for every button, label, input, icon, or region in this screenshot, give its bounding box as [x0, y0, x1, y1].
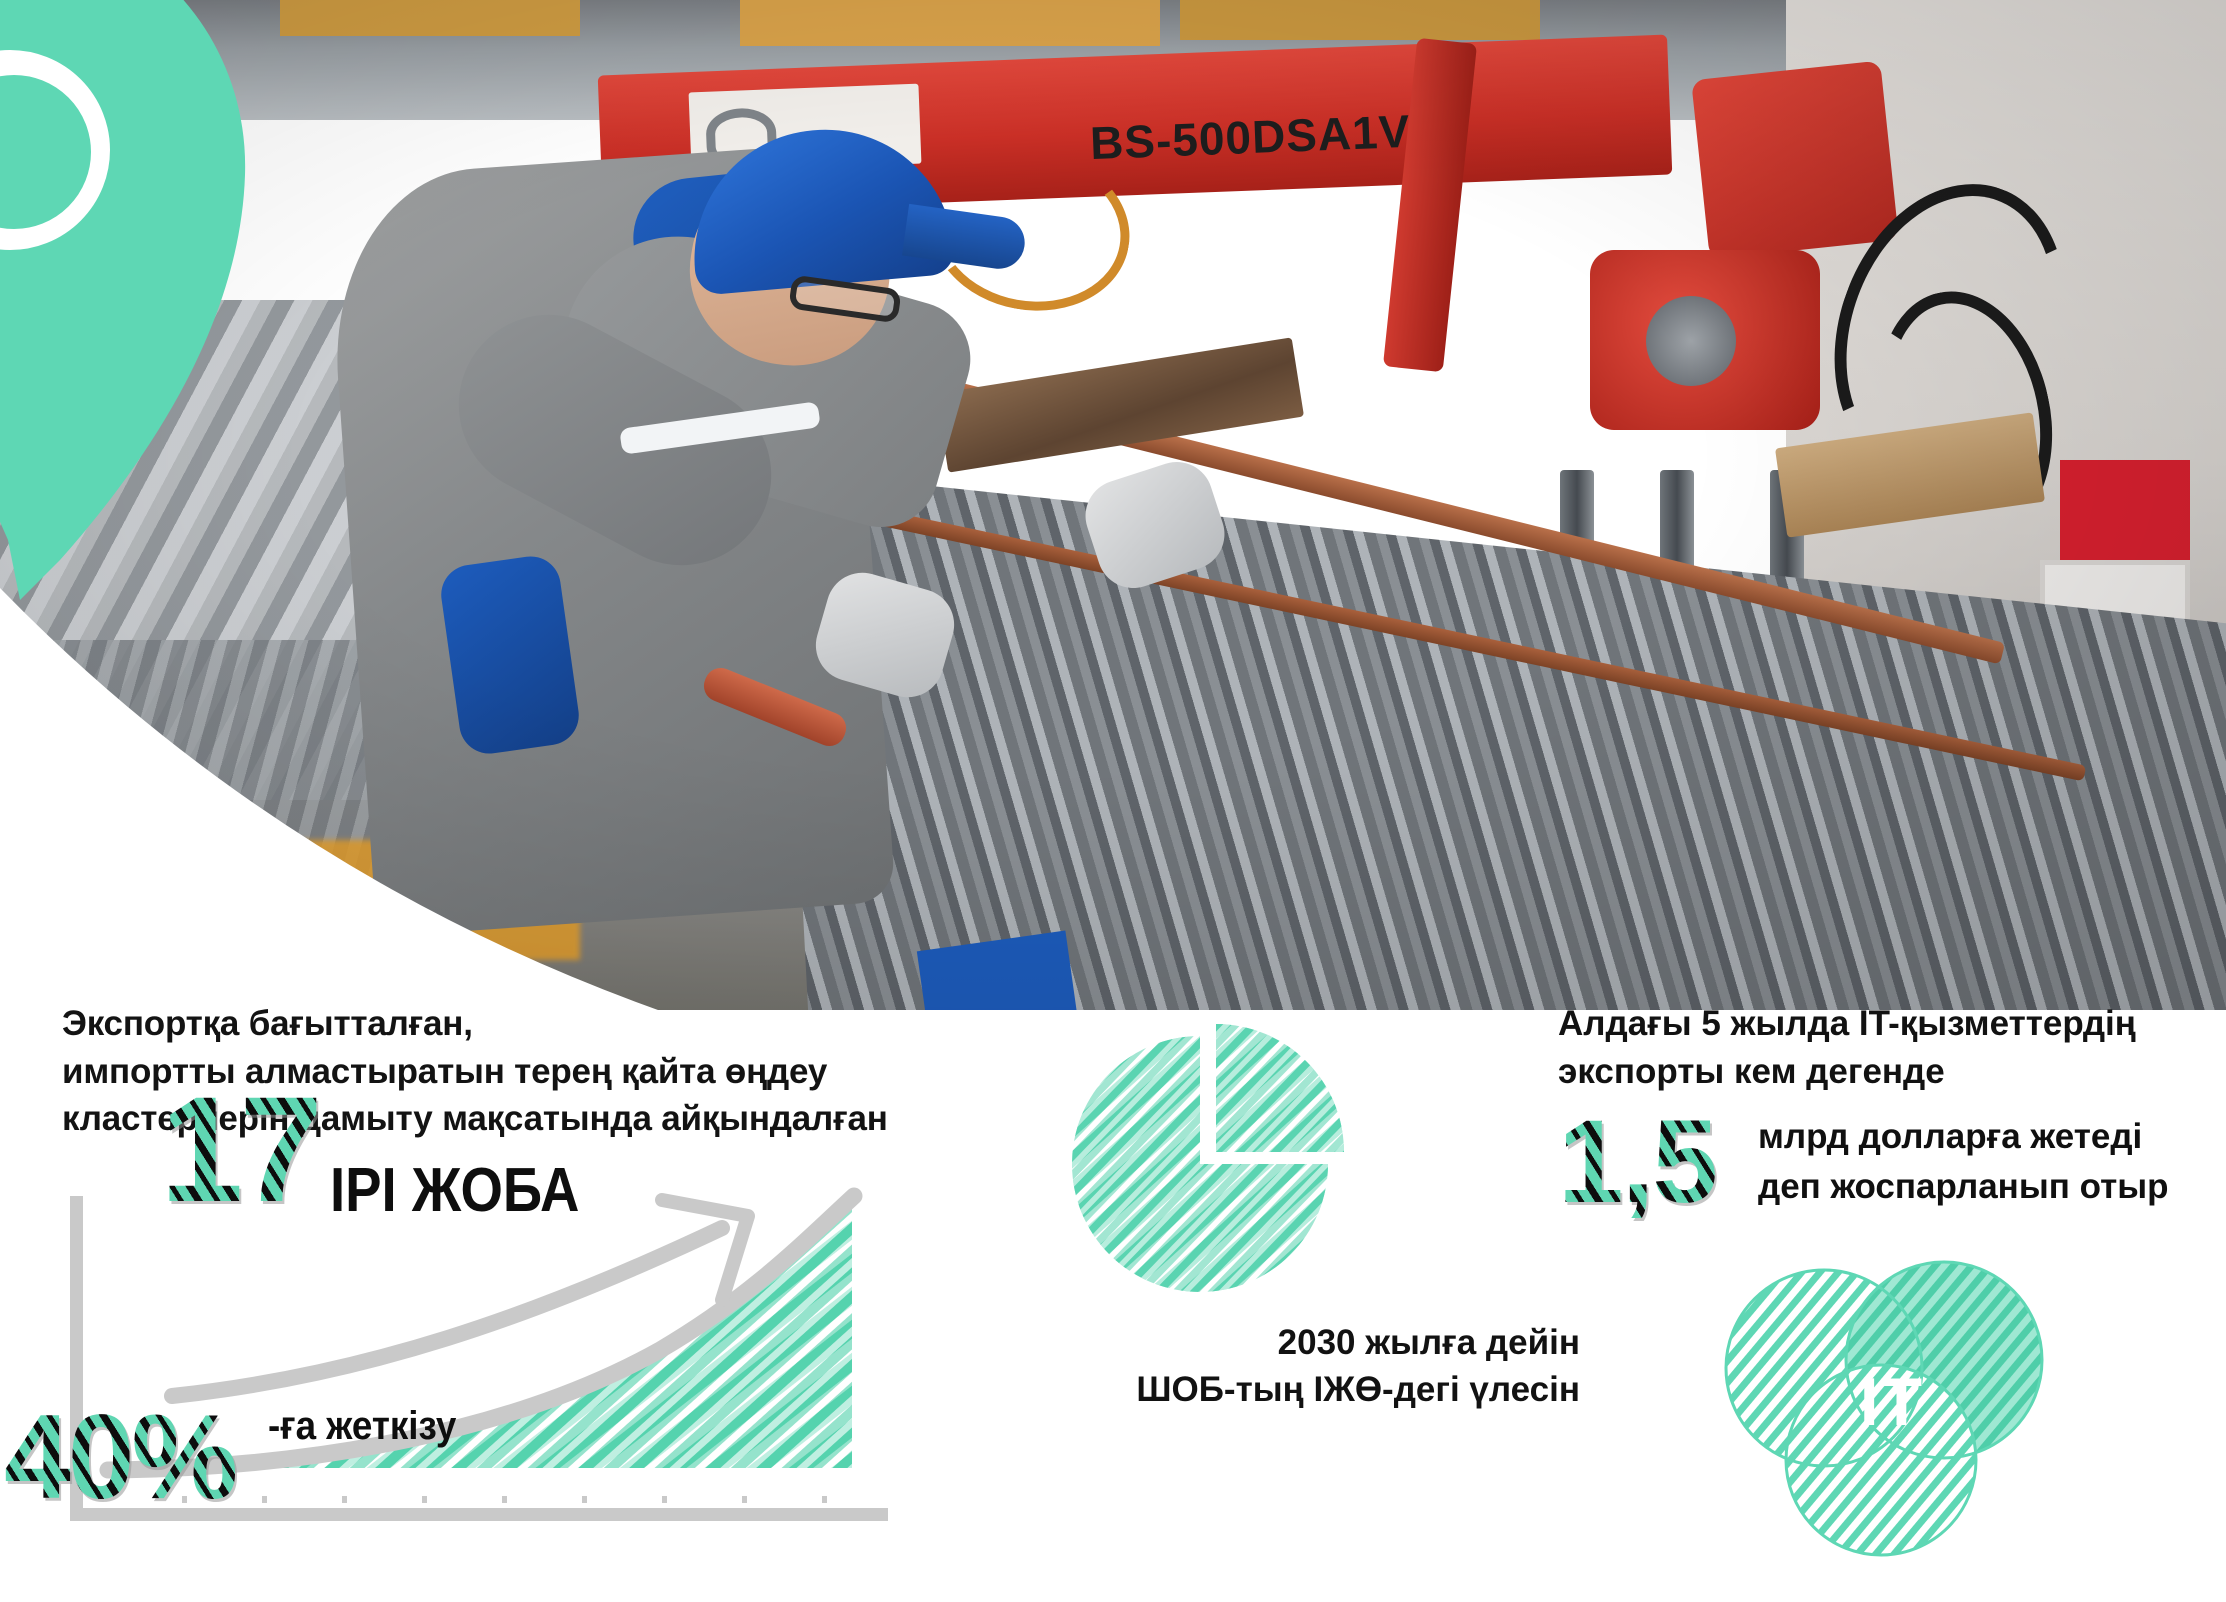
stat-40-number: 40%	[4, 1400, 235, 1514]
mid-paragraph: 2030 жылға дейін ШОБ-тың ІЖӨ-дегі үлесін	[960, 1320, 1580, 1414]
content-area: Экспортқа бағытталған, импортты алмастыр…	[0, 1000, 2226, 1602]
right-paragraph: Алдағы 5 жылда IT-қызметтердің экспорты …	[1558, 1000, 2198, 1097]
photo-vignette	[0, 0, 2226, 1010]
lead-line-1: Экспортқа бағытталған,	[62, 1000, 1012, 1048]
stat-40-suffix: -ға жеткізу	[268, 1404, 456, 1449]
venn-center-label: IT	[1722, 1252, 2062, 1552]
right-line-1: Алдағы 5 жылда IT-қызметтердің	[1558, 1000, 2198, 1048]
right-sub-line-2: деп жоспарланып отыр	[1758, 1162, 2169, 1212]
right-line-2: экспорты кем дегенде	[1558, 1048, 2198, 1096]
pie-chart	[1060, 1014, 1360, 1314]
factory-photo-composition: BS-500DSA1V	[0, 0, 2226, 1010]
right-subtext: млрд долларға жетеді деп жоспарланып оты…	[1758, 1112, 2169, 1211]
it-venn-diagram: IT	[1716, 1260, 2056, 1560]
mid-line-2: ШОБ-тың ІЖӨ-дегі үлесін	[960, 1367, 1580, 1414]
mid-line-1: 2030 жылға дейін	[960, 1320, 1580, 1367]
right-column: Алдағы 5 жылда IT-қызметтердің экспорты …	[1558, 1000, 2198, 1097]
hero-photo: BS-500DSA1V	[0, 0, 2226, 1010]
right-sub-line-1: млрд долларға жетеді	[1758, 1112, 2169, 1162]
infographic-poster: BS-500DSA1V	[0, 0, 2226, 1602]
x-axis-ticks	[182, 1496, 827, 1503]
stat-15-number: 1,5	[1558, 1106, 1716, 1218]
